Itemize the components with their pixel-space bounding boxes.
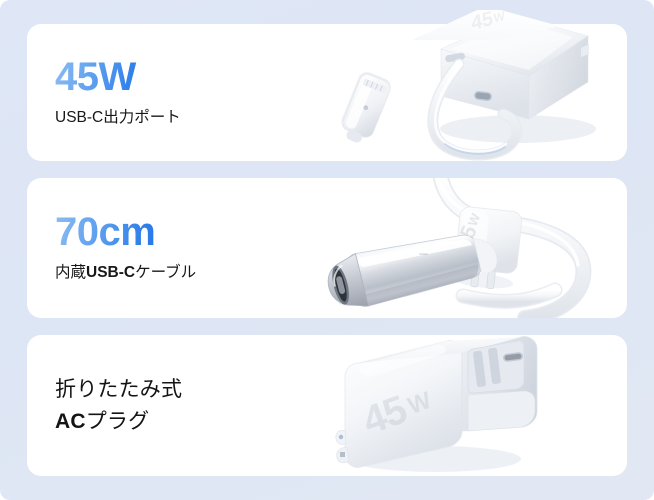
title-plug-rest: プラグ: [86, 410, 150, 433]
feature-card-ac-plug[interactable]: 45 W: [27, 335, 627, 476]
subline-prefix: 内蔵: [55, 264, 86, 281]
product-feature-panel: 45 W: [0, 0, 654, 500]
subline-usbc-output-port: USB-C出力ポート: [55, 107, 181, 129]
feature-card-70cm-text: 70cm 内蔵USB-Cケーブル: [55, 178, 196, 318]
feature-card-70cm[interactable]: 45 W: [27, 178, 627, 318]
folding-ac-plug-charger-photo: 45 W: [307, 335, 617, 476]
subline-suffix: ケーブル: [135, 264, 196, 281]
title-line-ac-plug: ACプラグ: [55, 406, 182, 438]
usbc-connector-closeup-photo: 45 W: [311, 178, 627, 318]
subline-bold: USB-C: [86, 264, 135, 281]
charger-with-usbc-cable-photo: 45 W: [333, 24, 627, 161]
feature-card-45w-text: 45W USB-C出力ポート: [55, 24, 181, 161]
subline-builtin-usbc-cable: 内蔵USB-Cケーブル: [55, 262, 196, 284]
feature-card-45w[interactable]: 45 W: [27, 24, 627, 161]
title-ac-bold: AC: [55, 410, 86, 433]
feature-card-ac-plug-text: 折りたたみ式 ACプラグ: [55, 335, 182, 476]
headline-45w: 45W: [55, 56, 181, 98]
headline-70cm: 70cm: [55, 211, 196, 253]
title-line-folding: 折りたたみ式: [55, 374, 182, 406]
